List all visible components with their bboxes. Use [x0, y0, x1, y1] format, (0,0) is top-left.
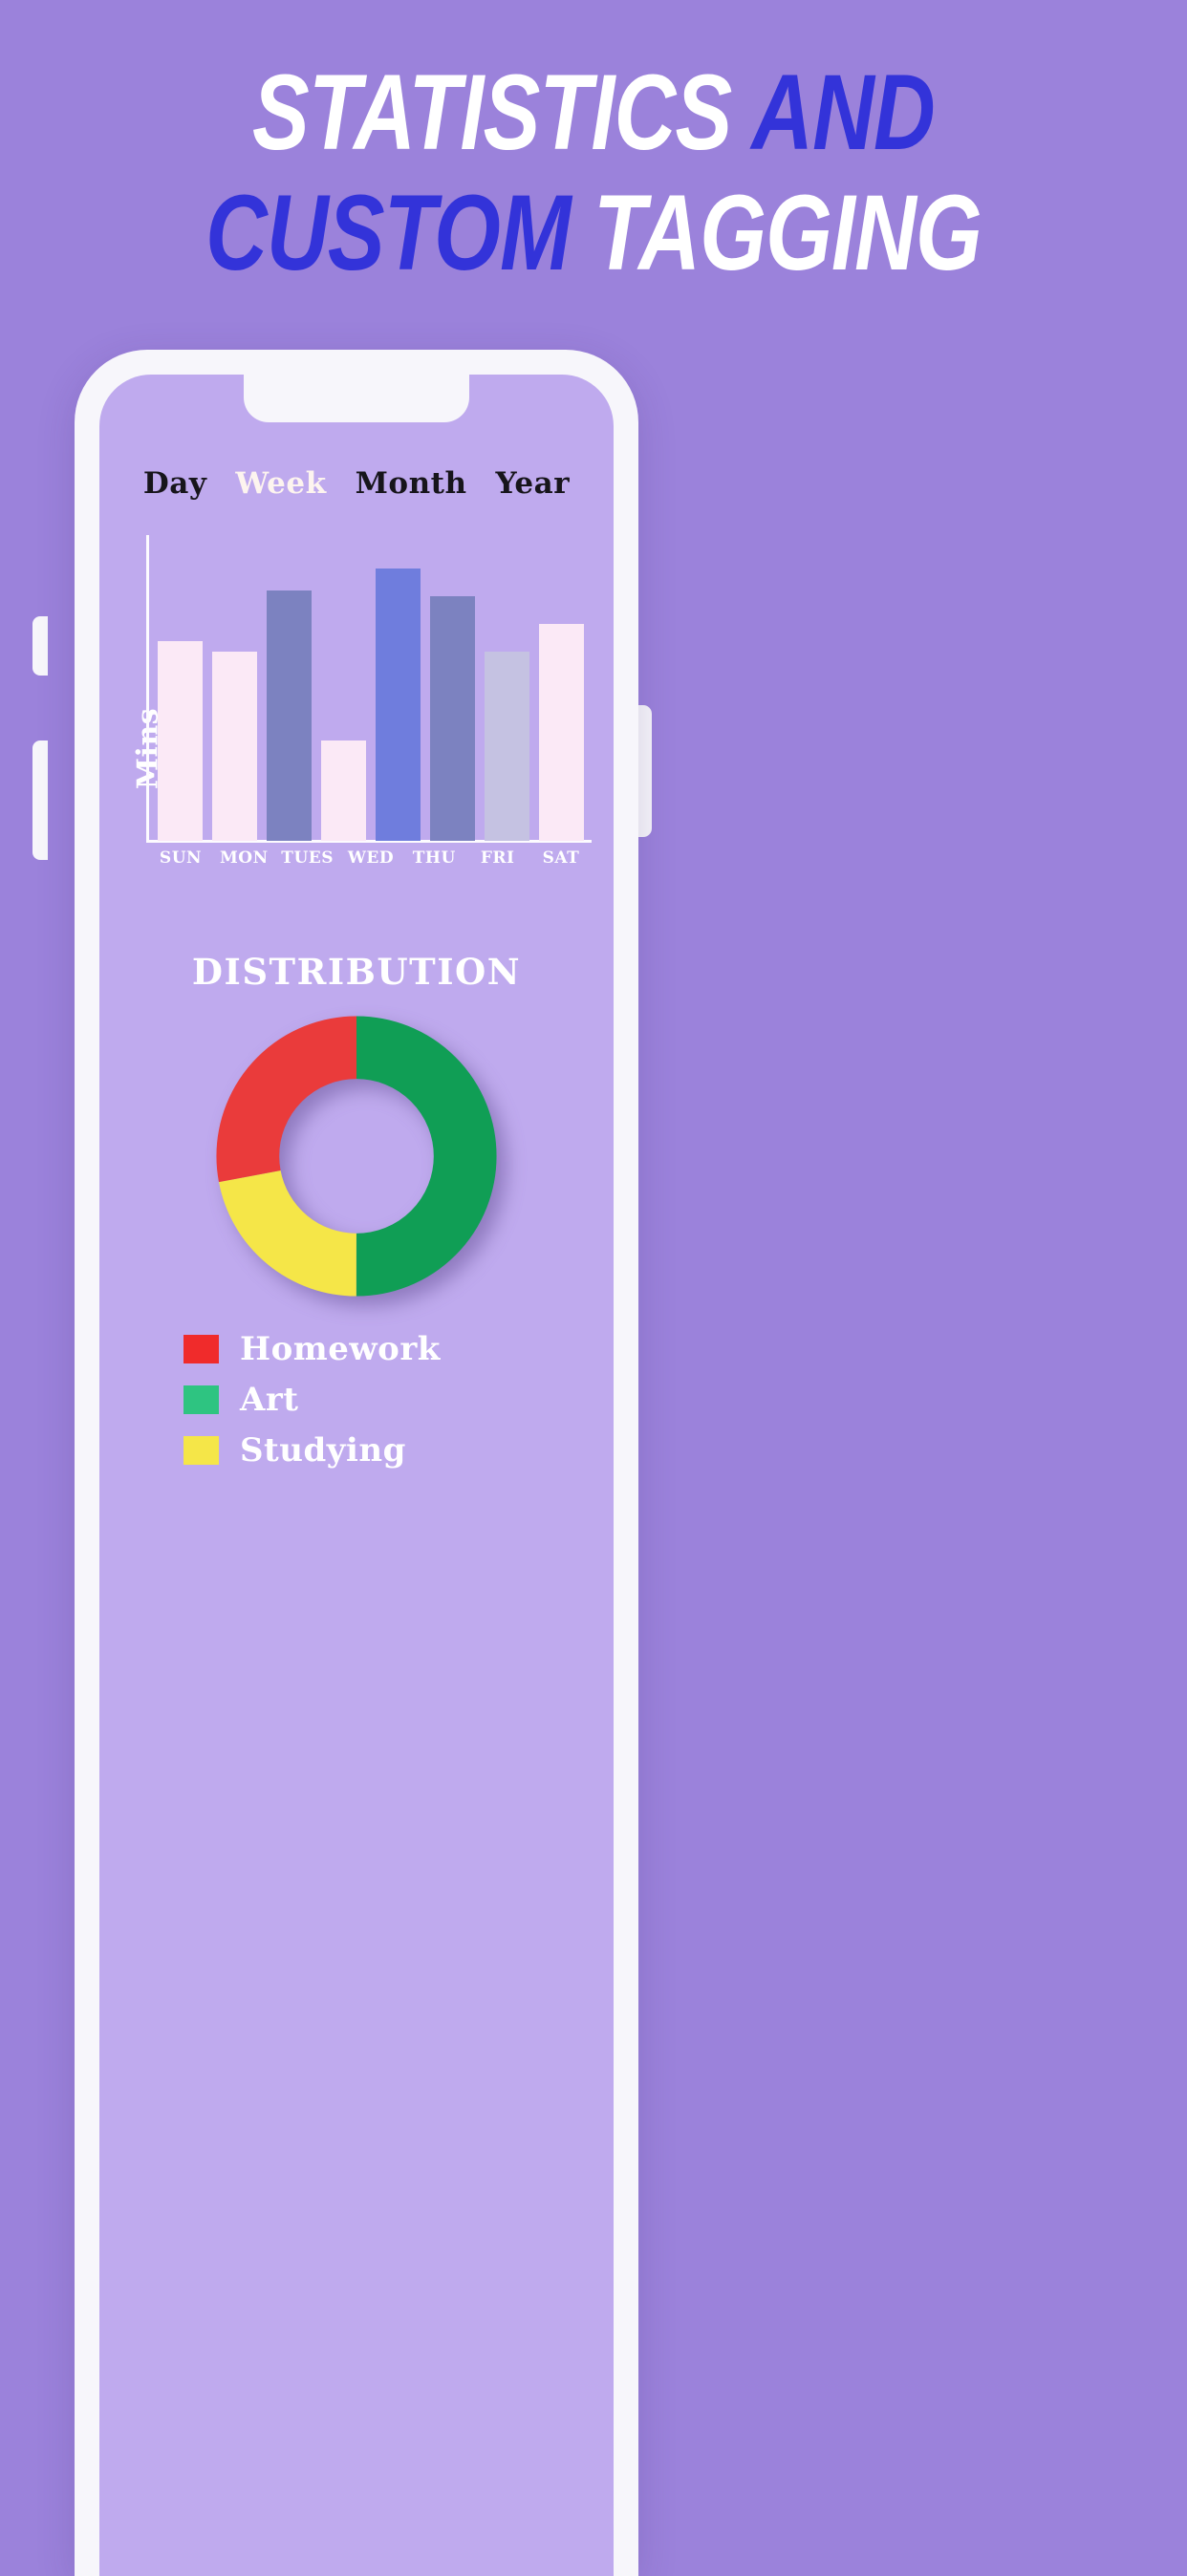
x-label-wed: WED — [344, 848, 398, 868]
bar-sat-6[interactable] — [485, 652, 529, 841]
tab-day[interactable]: Day — [143, 466, 206, 501]
headline-and: AND — [751, 53, 935, 172]
legend-item-art[interactable]: Art — [183, 1381, 585, 1419]
tab-week[interactable]: Week — [235, 466, 326, 501]
headline-custom: CUSTOM — [205, 173, 571, 292]
legend-label-homework: Homework — [240, 1330, 441, 1368]
bar-mon-1[interactable] — [212, 652, 257, 841]
distribution-heading: DISTRIBUTION — [99, 951, 614, 993]
legend-swatch-art — [183, 1385, 219, 1414]
period-tab-bar[interactable]: Day Week Month Year — [99, 466, 614, 501]
bar-chart-x-axis-labels: SUN MON TUES WED THU FRI SAT — [150, 848, 592, 868]
tab-year[interactable]: Year — [496, 466, 571, 501]
tab-month[interactable]: Month — [356, 466, 467, 501]
x-label-mon: MON — [217, 848, 270, 868]
distribution-legend: Homework Art Studying — [183, 1330, 585, 1482]
phone-mute-switch[interactable] — [32, 616, 48, 676]
x-label-fri: FRI — [471, 848, 525, 868]
donut-svg — [213, 1013, 500, 1299]
headline-statistics: STATISTICS — [252, 53, 731, 172]
distribution-donut-chart — [213, 1013, 500, 1299]
phone-mockup: Day Week Month Year Mins SUN MON TUES WE… — [75, 350, 638, 2576]
x-label-thu: THU — [407, 848, 461, 868]
bar-chart-y-axis-line — [146, 535, 149, 843]
x-label-sat: SAT — [534, 848, 588, 868]
x-label-sun: SUN — [154, 848, 207, 868]
phone-volume-down-button[interactable] — [32, 764, 48, 860]
legend-label-art: Art — [240, 1381, 299, 1419]
minutes-bar-chart: Mins SUN MON TUES WED THU FRI SAT — [99, 527, 614, 891]
headline-line-2: CUSTOM TAGGING — [119, 180, 1068, 287]
legend-swatch-homework — [183, 1335, 219, 1363]
legend-label-studying: Studying — [240, 1431, 406, 1470]
phone-screen: Day Week Month Year Mins SUN MON TUES WE… — [99, 375, 614, 2576]
bar-sun-0[interactable] — [158, 641, 203, 841]
bar-sat-7[interactable] — [539, 624, 584, 841]
phone-notch — [244, 375, 469, 422]
legend-item-studying[interactable]: Studying — [183, 1431, 585, 1470]
headline-line-1: STATISTICS AND — [119, 59, 1068, 166]
promo-headline: STATISTICS AND CUSTOM TAGGING — [0, 59, 1187, 287]
legend-swatch-studying — [183, 1436, 219, 1465]
headline-tagging: TAGGING — [593, 173, 982, 292]
bar-chart-bars — [150, 535, 592, 841]
legend-item-homework[interactable]: Homework — [183, 1330, 585, 1368]
bar-tues-2[interactable] — [267, 590, 312, 841]
bar-fri-5[interactable] — [430, 596, 475, 841]
x-label-tues: TUES — [281, 848, 335, 868]
bar-thu-4[interactable] — [376, 569, 421, 841]
bar-wed-3[interactable] — [321, 741, 366, 841]
